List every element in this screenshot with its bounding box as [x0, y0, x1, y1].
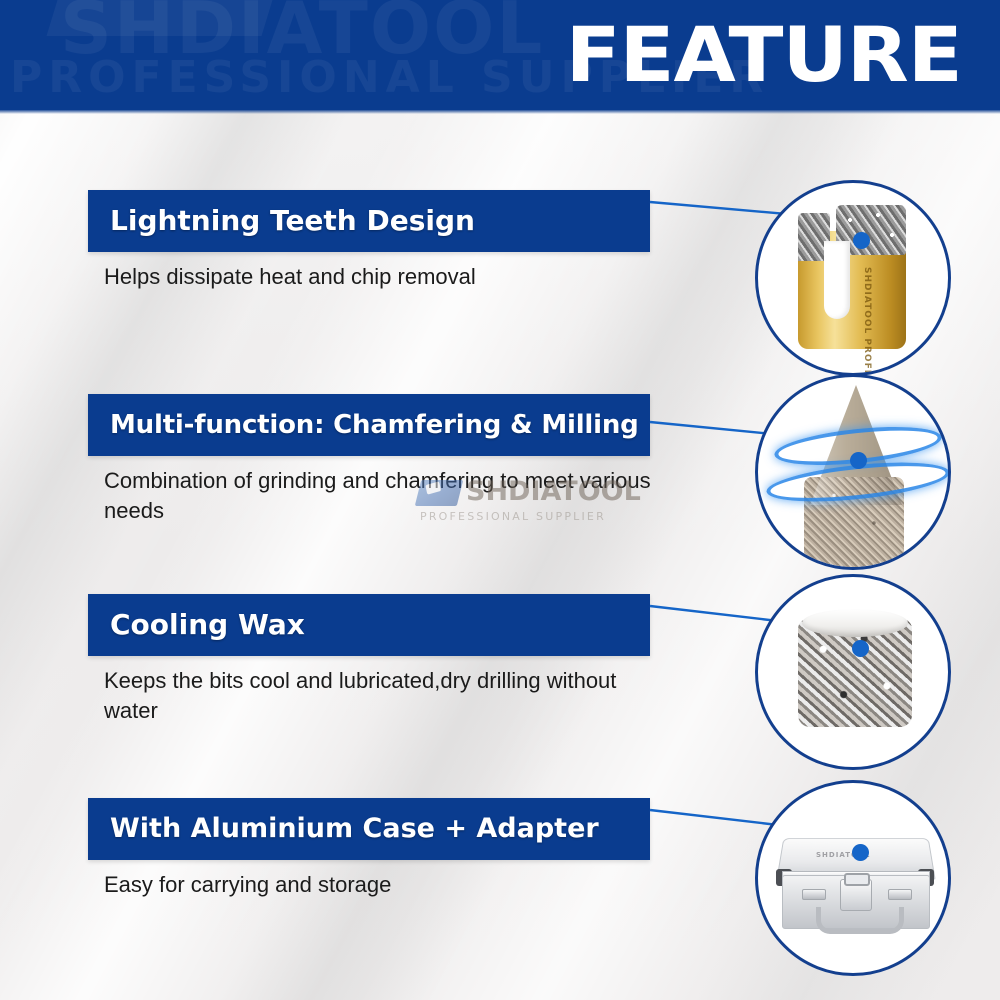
connector-dot-3: [852, 640, 869, 657]
brand-logo-mark-icon: [415, 480, 463, 506]
connector-dot-1: [853, 232, 870, 249]
feature-title-box-2: Multi-function: Chamfering & Milling: [88, 394, 650, 456]
feature-image-circle-3: [755, 574, 951, 770]
header-banner: SHDIATOOL PROFESSIONAL SUPPLIER FEATURE: [0, 0, 1000, 110]
feature-title-box-1: Lightning Teeth Design: [88, 190, 650, 252]
feature-description-3: Keeps the bits cool and lubricated,dry d…: [104, 666, 664, 726]
cooling-wax-cylinder-icon: [758, 577, 948, 767]
feature-title-2: Multi-function: Chamfering & Milling: [110, 394, 639, 456]
feature-title-4: With Aluminium Case + Adapter: [110, 798, 599, 860]
connector-dot-4: [852, 844, 869, 861]
connector-dot-2: [850, 452, 867, 469]
bit-engraved-label: SHDIATOOL PROFESSIONAL SUPPLIER: [862, 267, 872, 376]
page-title: FEATURE: [566, 14, 962, 96]
feature-title-3: Cooling Wax: [110, 594, 305, 656]
feature-infographic-page: SHDIATOOL PROFESSIONAL SUPPLIER FEATURE …: [0, 0, 1000, 1000]
feature-description-4: Easy for carrying and storage: [104, 870, 664, 900]
banner-bottom-edge: [0, 104, 1000, 114]
feature-image-circle-4: SHDIATOOL: [755, 780, 951, 976]
feature-description-1: Helps dissipate heat and chip removal: [104, 262, 664, 292]
feature-title-1: Lightning Teeth Design: [110, 190, 475, 252]
brand-name: SHDIATOOL: [466, 476, 641, 507]
conical-chamfering-bit-icon: [758, 377, 948, 567]
center-watermark: SHDIATOOL PROFESSIONAL SUPPLIER: [418, 476, 608, 532]
feature-image-circle-1: SHDIATOOL PROFESSIONAL SUPPLIER: [755, 180, 951, 376]
feature-title-box-3: Cooling Wax: [88, 594, 650, 656]
aluminium-case-icon: SHDIATOOL: [758, 783, 948, 973]
feature-image-circle-2: [755, 374, 951, 570]
feature-title-box-4: With Aluminium Case + Adapter: [88, 798, 650, 860]
gold-core-drill-bit-icon: SHDIATOOL PROFESSIONAL SUPPLIER: [758, 183, 948, 373]
brand-tagline: PROFESSIONAL SUPPLIER: [420, 510, 606, 523]
